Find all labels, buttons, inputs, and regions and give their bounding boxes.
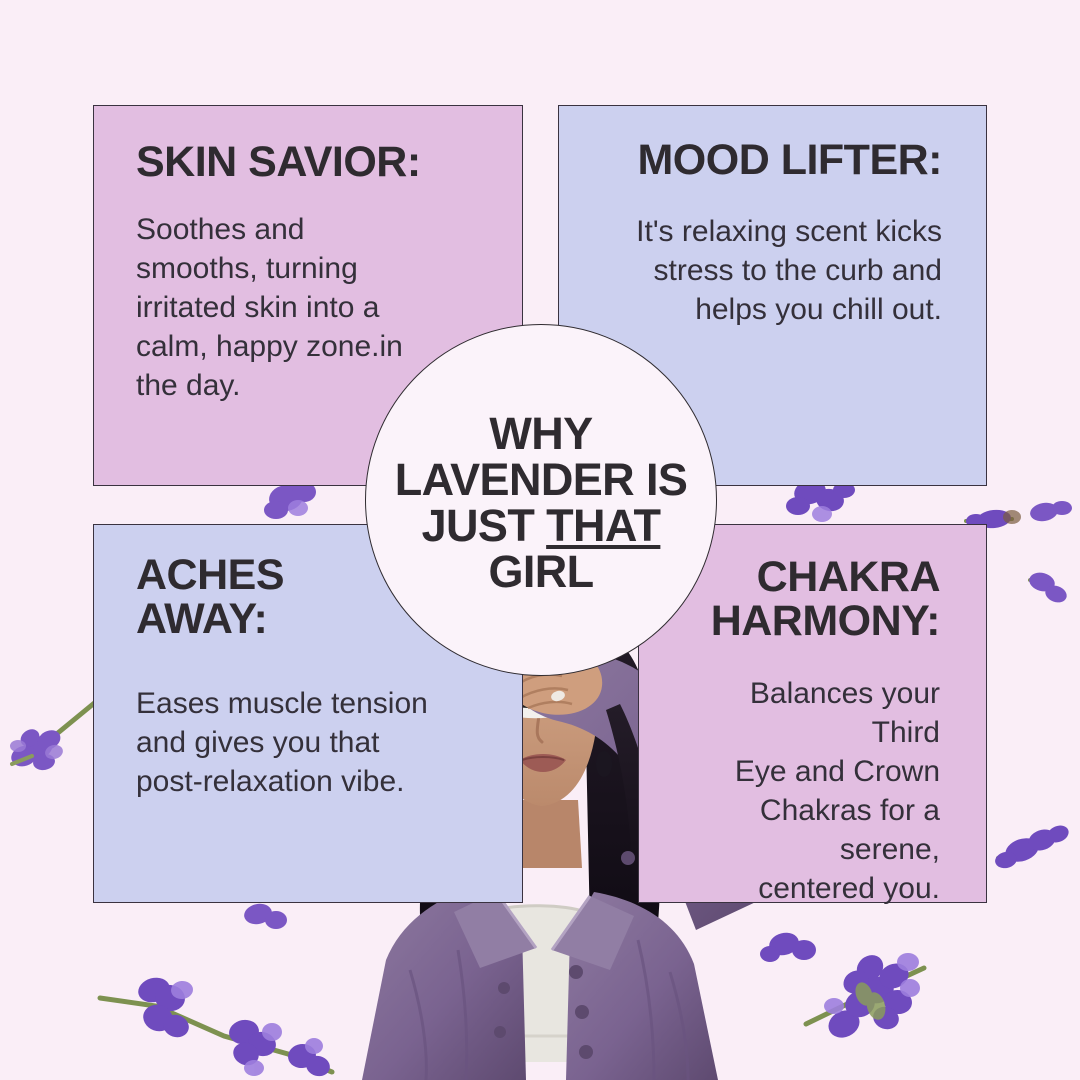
- headline-line-3-underlined: THAT: [546, 500, 660, 551]
- card-skin-savior-title: SKIN SAVIOR:: [136, 140, 484, 184]
- headline-line-3-prefix: JUST: [422, 500, 547, 551]
- center-headline-badge: WHY LAVENDER IS JUST THAT GIRL: [365, 324, 717, 676]
- lavender-sprig-bottom-right-icon: [798, 906, 1034, 1066]
- lavender-bud-right-lower-icon: [992, 820, 1080, 880]
- card-chakra-harmony-title: CHAKRA HARMONY:: [681, 555, 940, 644]
- lavender-bud-right-middle-icon: [1026, 566, 1080, 610]
- headline-text: WHY LAVENDER IS JUST THAT GIRL: [381, 411, 702, 595]
- card-chakra-harmony-body: Balances your Third Eye and Crown Chakra…: [681, 674, 940, 908]
- lavender-bud-right-edge-icon: [1020, 492, 1080, 532]
- card-aches-away-body: Eases muscle tension and gives you that …: [136, 684, 484, 801]
- headline-line-4: GIRL: [488, 546, 593, 597]
- card-mood-lifter-body: It's relaxing scent kicks stress to the …: [601, 212, 942, 329]
- card-mood-lifter-title: MOOD LIFTER:: [601, 138, 942, 182]
- infographic-canvas: SKIN SAVIOR: Soothes and smooths, turnin…: [0, 0, 1080, 1080]
- headline-line-2: LAVENDER IS: [395, 454, 688, 505]
- headline-line-1: WHY: [489, 408, 592, 459]
